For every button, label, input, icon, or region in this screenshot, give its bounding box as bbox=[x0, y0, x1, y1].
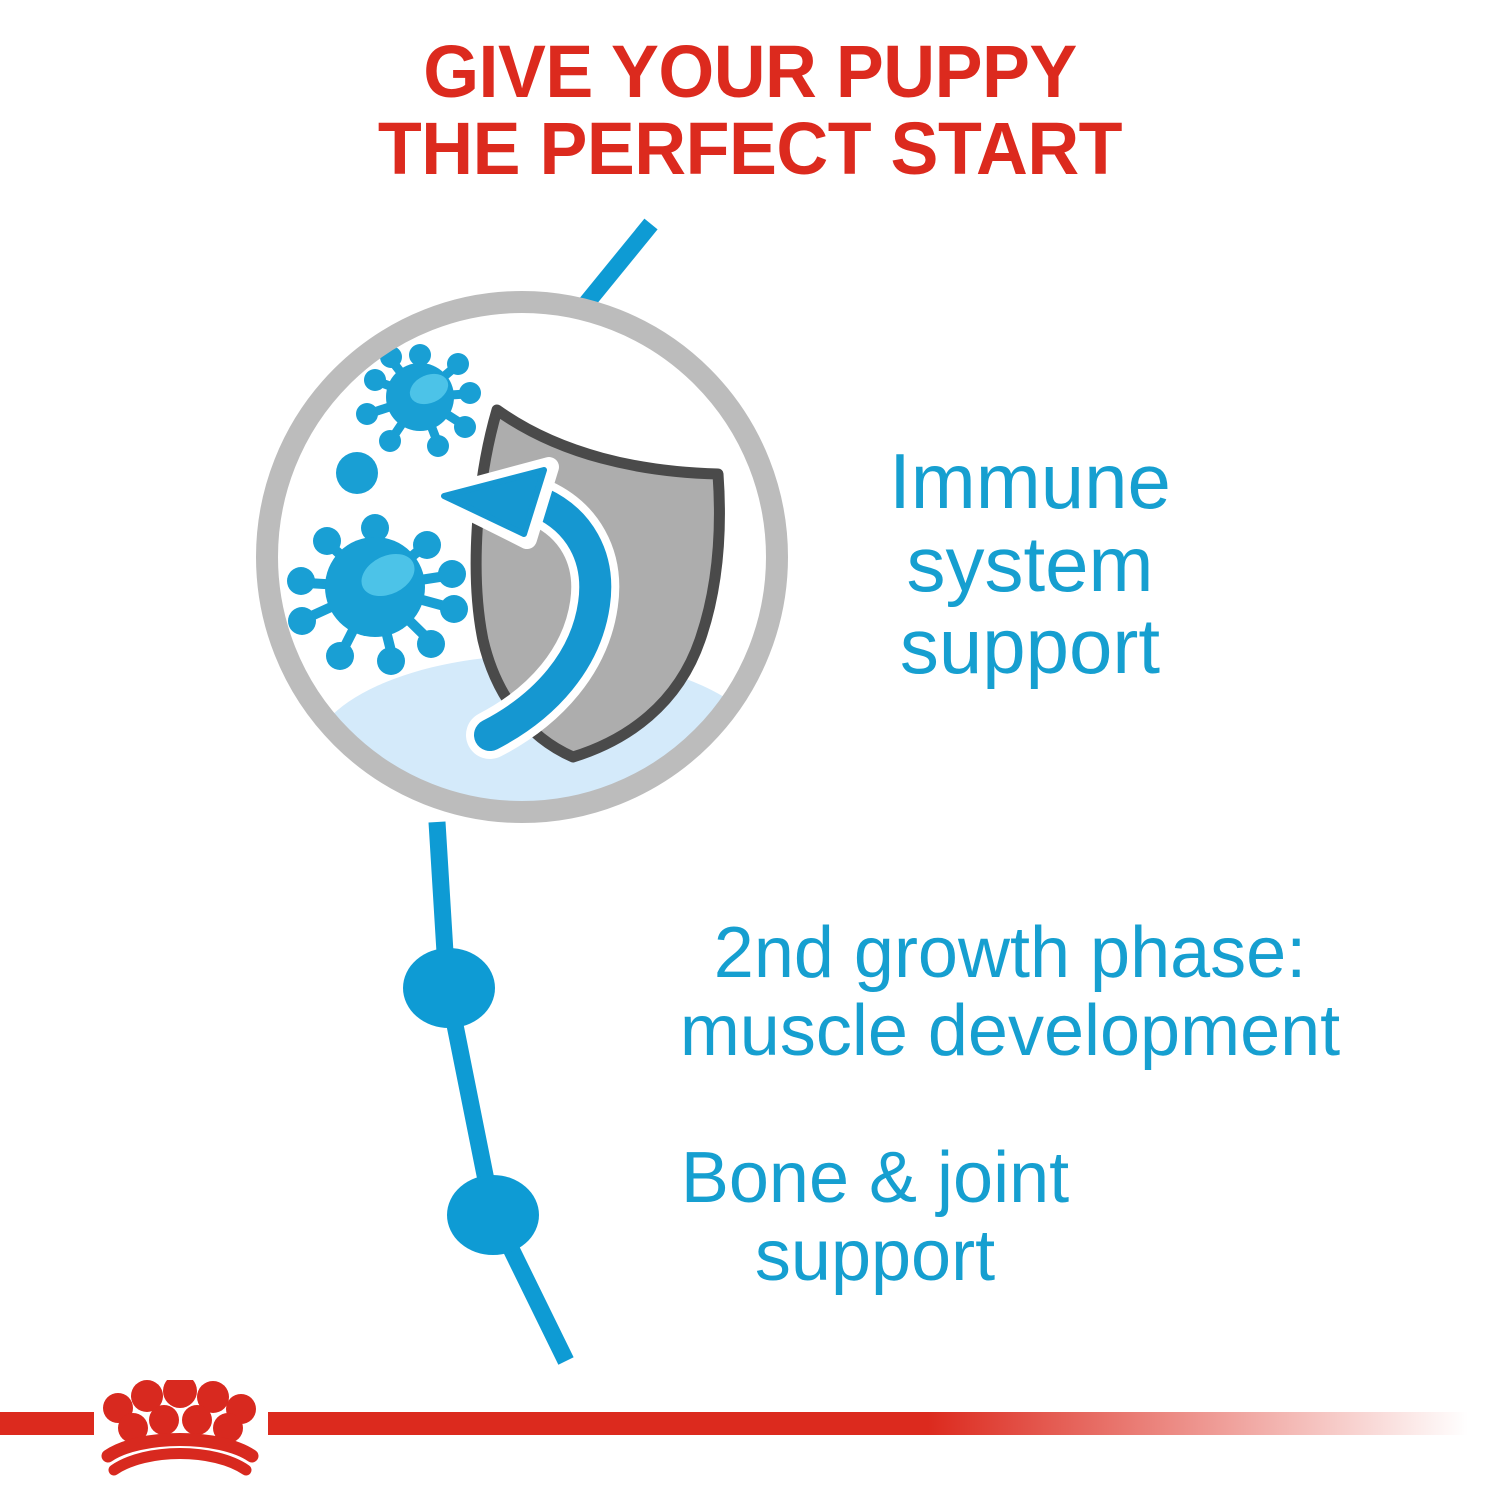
poster-canvas: GIVE YOUR PUPPY THE PERFECT START bbox=[0, 0, 1500, 1500]
benefit-2-line-1: 2nd growth phase: bbox=[545, 915, 1475, 993]
benefit-1-line-3: support bbox=[800, 605, 1260, 688]
page-title: GIVE YOUR PUPPY THE PERFECT START bbox=[197, 34, 1303, 188]
benefit-label-second-growth-phase: 2nd growth phase: muscle development bbox=[545, 915, 1475, 1071]
benefit-2-line-2: muscle development bbox=[545, 993, 1475, 1071]
connector-line-bottom bbox=[403, 822, 566, 1361]
connector-node-2 bbox=[447, 1175, 539, 1255]
ground-pool bbox=[310, 655, 770, 865]
benefit-1-line-1: Immune bbox=[800, 440, 1260, 523]
footer-brand-bar bbox=[0, 1380, 1500, 1500]
benefit-label-bone-joint-support: Bone & joint support bbox=[565, 1140, 1185, 1296]
circle-inner-fill bbox=[267, 302, 777, 812]
benefit-1-line-2: system bbox=[800, 523, 1260, 606]
virus-icon-upper bbox=[356, 344, 481, 457]
benefit-label-immune-system-support: Immune system support bbox=[800, 440, 1260, 688]
footer-bar-right bbox=[268, 1412, 1468, 1435]
royal-canin-crown-logo bbox=[103, 1380, 256, 1470]
footer-bar-left bbox=[0, 1412, 94, 1435]
illustration-circle-ring bbox=[267, 302, 777, 812]
page-title-line-2: THE PERFECT START bbox=[197, 111, 1303, 188]
protection-arrow-icon bbox=[441, 467, 595, 735]
virus-icon-lower bbox=[287, 514, 468, 675]
shield-icon bbox=[476, 410, 719, 757]
circle-contents bbox=[287, 344, 770, 865]
benefit-3-line-2: support bbox=[565, 1218, 1185, 1296]
virus-dot-icon bbox=[336, 452, 378, 494]
connector-node-1 bbox=[403, 948, 495, 1028]
page-title-line-1: GIVE YOUR PUPPY bbox=[197, 34, 1303, 111]
connector-line-top bbox=[585, 224, 651, 305]
benefit-3-line-1: Bone & joint bbox=[565, 1140, 1185, 1218]
